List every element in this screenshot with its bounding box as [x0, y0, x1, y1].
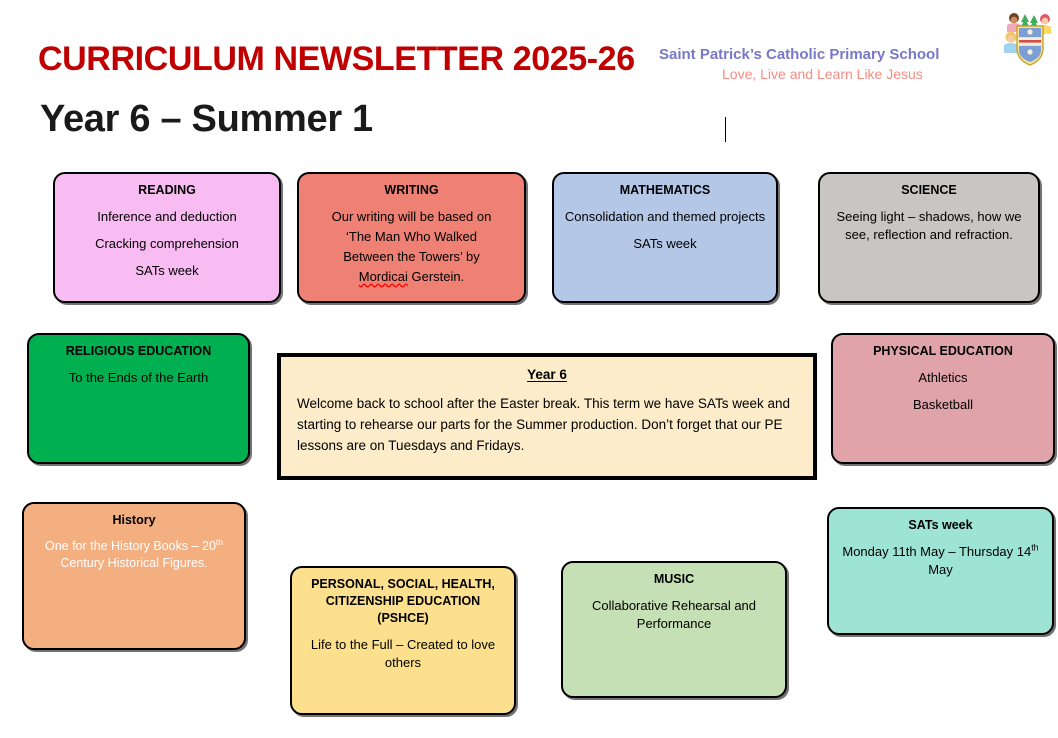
- subject-title-mathematics: MATHEMATICS: [564, 182, 766, 199]
- year-overview-title: Year 6: [297, 367, 797, 382]
- history-text-post: Century Historical Figures.: [60, 556, 207, 570]
- history-text-pre: One for the History Books – 20: [45, 539, 216, 553]
- subject-line: To the Ends of the Earth: [39, 369, 238, 387]
- subject-title-music: MUSIC: [573, 571, 775, 588]
- subject-line: Our writing will be based on: [309, 208, 514, 226]
- subject-title-reading: READING: [65, 182, 269, 199]
- subject-line: Athletics: [843, 369, 1043, 387]
- subject-box-physical-education[interactable]: PHYSICAL EDUCATION Athletics Basketball: [831, 333, 1055, 464]
- text-cursor-caret: [725, 117, 726, 142]
- subject-box-mathematics[interactable]: MATHEMATICS Consolidation and themed pro…: [552, 172, 778, 303]
- subject-line: Basketball: [843, 396, 1043, 414]
- author-surname: Gerstein.: [408, 269, 464, 284]
- subject-title-pshce-line2: CITIZENSHIP EDUCATION: [302, 593, 504, 610]
- subject-title-history: History: [34, 512, 234, 529]
- info-title-sats-week: SATs week: [839, 517, 1042, 534]
- subject-line-author: Mordicai Gerstein.: [309, 268, 514, 286]
- subject-title-pshce-line1: PERSONAL, SOCIAL, HEALTH,: [302, 576, 504, 593]
- subject-box-writing[interactable]: WRITING Our writing will be based on ‘Th…: [297, 172, 526, 303]
- page-title: CURRICULUM NEWSLETTER 2025-26: [38, 40, 635, 79]
- subject-line: Inference and deduction: [65, 208, 269, 226]
- subject-line: Collaborative Rehearsal and Performance: [573, 597, 775, 633]
- sats-date-pre: Monday 11th May – Thursday 14: [842, 544, 1031, 559]
- subject-line: Life to the Full – Created to love other…: [302, 636, 504, 672]
- year-overview-body: Welcome back to school after the Easter …: [297, 394, 797, 457]
- school-motto-text: Love, Live and Learn Like Jesus: [722, 66, 923, 82]
- sats-date-post: May: [928, 562, 953, 577]
- subject-box-pshce[interactable]: PERSONAL, SOCIAL, HEALTH, CITIZENSHIP ED…: [290, 566, 516, 715]
- ordinal-suffix: th: [216, 537, 223, 547]
- subject-title-pshce-line3: (PSHCE): [302, 610, 504, 627]
- misspelled-word: Mordicai: [359, 269, 408, 284]
- document-header: CURRICULUM NEWSLETTER 2025-26 Year 6 – S…: [0, 0, 1058, 160]
- subject-box-religious-education[interactable]: RELIGIOUS EDUCATION To the Ends of the E…: [27, 333, 250, 464]
- subject-title-religious-education: RELIGIOUS EDUCATION: [39, 343, 238, 360]
- sats-date-range: Monday 11th May – Thursday 14th May: [839, 543, 1042, 579]
- school-name-text: Saint Patrick’s Catholic Primary School: [659, 46, 939, 63]
- subject-line: Consolidation and themed projects: [564, 208, 766, 226]
- subject-title-science: SCIENCE: [830, 182, 1028, 199]
- subject-line: SATs week: [65, 262, 269, 280]
- subject-line: SATs week: [564, 235, 766, 253]
- subject-box-history[interactable]: History One for the History Books – 20th…: [22, 502, 246, 650]
- subject-line-history: One for the History Books – 20th Century…: [34, 538, 234, 573]
- subject-line: Cracking comprehension: [65, 235, 269, 253]
- subject-box-reading[interactable]: READING Inference and deduction Cracking…: [53, 172, 281, 303]
- subject-box-music[interactable]: MUSIC Collaborative Rehearsal and Perfor…: [561, 561, 787, 698]
- subject-line: Between the Towers’ by: [309, 248, 514, 266]
- subject-box-science[interactable]: SCIENCE Seeing light – shadows, how we s…: [818, 172, 1040, 303]
- subject-title-physical-education: PHYSICAL EDUCATION: [843, 343, 1043, 360]
- year-term-heading: Year 6 – Summer 1: [40, 98, 373, 141]
- year-overview-box[interactable]: Year 6 Welcome back to school after the …: [277, 353, 817, 480]
- subject-title-writing: WRITING: [309, 182, 514, 199]
- school-crest-logo: [1001, 6, 1053, 68]
- subject-line: Seeing light – shadows, how we see, refl…: [830, 208, 1028, 244]
- info-box-sats-week[interactable]: SATs week Monday 11th May – Thursday 14t…: [827, 507, 1054, 635]
- ordinal-suffix: th: [1031, 543, 1038, 553]
- subject-line: ‘The Man Who Walked: [309, 228, 514, 246]
